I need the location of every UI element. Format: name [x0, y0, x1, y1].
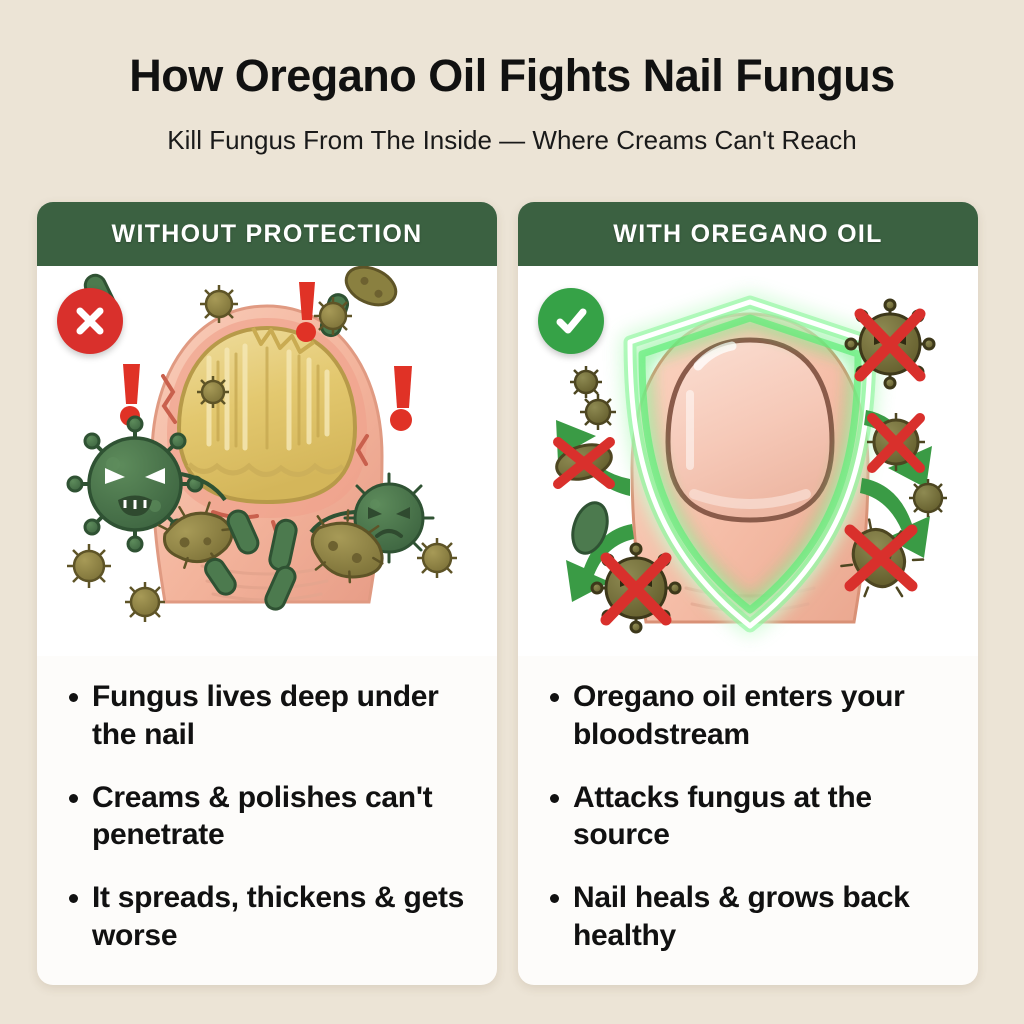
healthy-nail	[668, 340, 832, 520]
infographic-page: How Oregano Oil Fights Nail Fungus Kill …	[0, 0, 1024, 1024]
list-item: Creams & polishes can't penetrate	[63, 779, 471, 855]
x-circle-icon	[73, 304, 107, 338]
badge-x-circle	[57, 288, 123, 354]
bullet-label: Attacks fungus at the source	[573, 779, 952, 855]
check-circle-icon	[552, 302, 590, 340]
list-item: It spreads, thickens & gets worse	[63, 879, 471, 955]
badge-check-circle	[538, 288, 604, 354]
panel-header-label: WITHOUT PROTECTION	[112, 220, 423, 249]
bullet-list-with-oregano-oil: Oregano oil enters your bloodstream Atta…	[518, 656, 978, 955]
list-item: Oregano oil enters your bloodstream	[544, 678, 952, 754]
bullet-label: Creams & polishes can't penetrate	[92, 779, 471, 855]
illustration-protected-toenail	[518, 266, 978, 656]
bullet-label: Oregano oil enters your bloodstream	[573, 678, 952, 754]
list-item: Nail heals & grows back healthy	[544, 879, 952, 955]
bullet-dot-icon	[550, 894, 559, 903]
bullet-label: It spreads, thickens & gets worse	[92, 879, 471, 955]
bullet-list-without-protection: Fungus lives deep under the nail Creams …	[37, 656, 497, 955]
panel-with-oregano-oil: WITH OREGANO OIL	[518, 202, 978, 985]
list-item: Attacks fungus at the source	[544, 779, 952, 855]
page-subtitle: Kill Fungus From The Inside — Where Crea…	[0, 125, 1024, 156]
panel-header-label: WITH OREGANO OIL	[613, 220, 882, 249]
bullet-dot-icon	[69, 794, 78, 803]
panel-header-without-protection: WITHOUT PROTECTION	[37, 202, 497, 266]
panel-header-with-oregano-oil: WITH OREGANO OIL	[518, 202, 978, 266]
infected-nail	[179, 328, 355, 502]
illustration-infected-toenail	[37, 266, 497, 656]
page-title: How Oregano Oil Fights Nail Fungus	[0, 50, 1024, 102]
bullet-label: Fungus lives deep under the nail	[92, 678, 471, 754]
bullet-dot-icon	[69, 894, 78, 903]
list-item: Fungus lives deep under the nail	[63, 678, 471, 754]
bullet-dot-icon	[69, 693, 78, 702]
panel-without-protection: WITHOUT PROTECTION	[37, 202, 497, 985]
bullet-dot-icon	[550, 794, 559, 803]
bullet-dot-icon	[550, 693, 559, 702]
bullet-label: Nail heals & grows back healthy	[573, 879, 952, 955]
